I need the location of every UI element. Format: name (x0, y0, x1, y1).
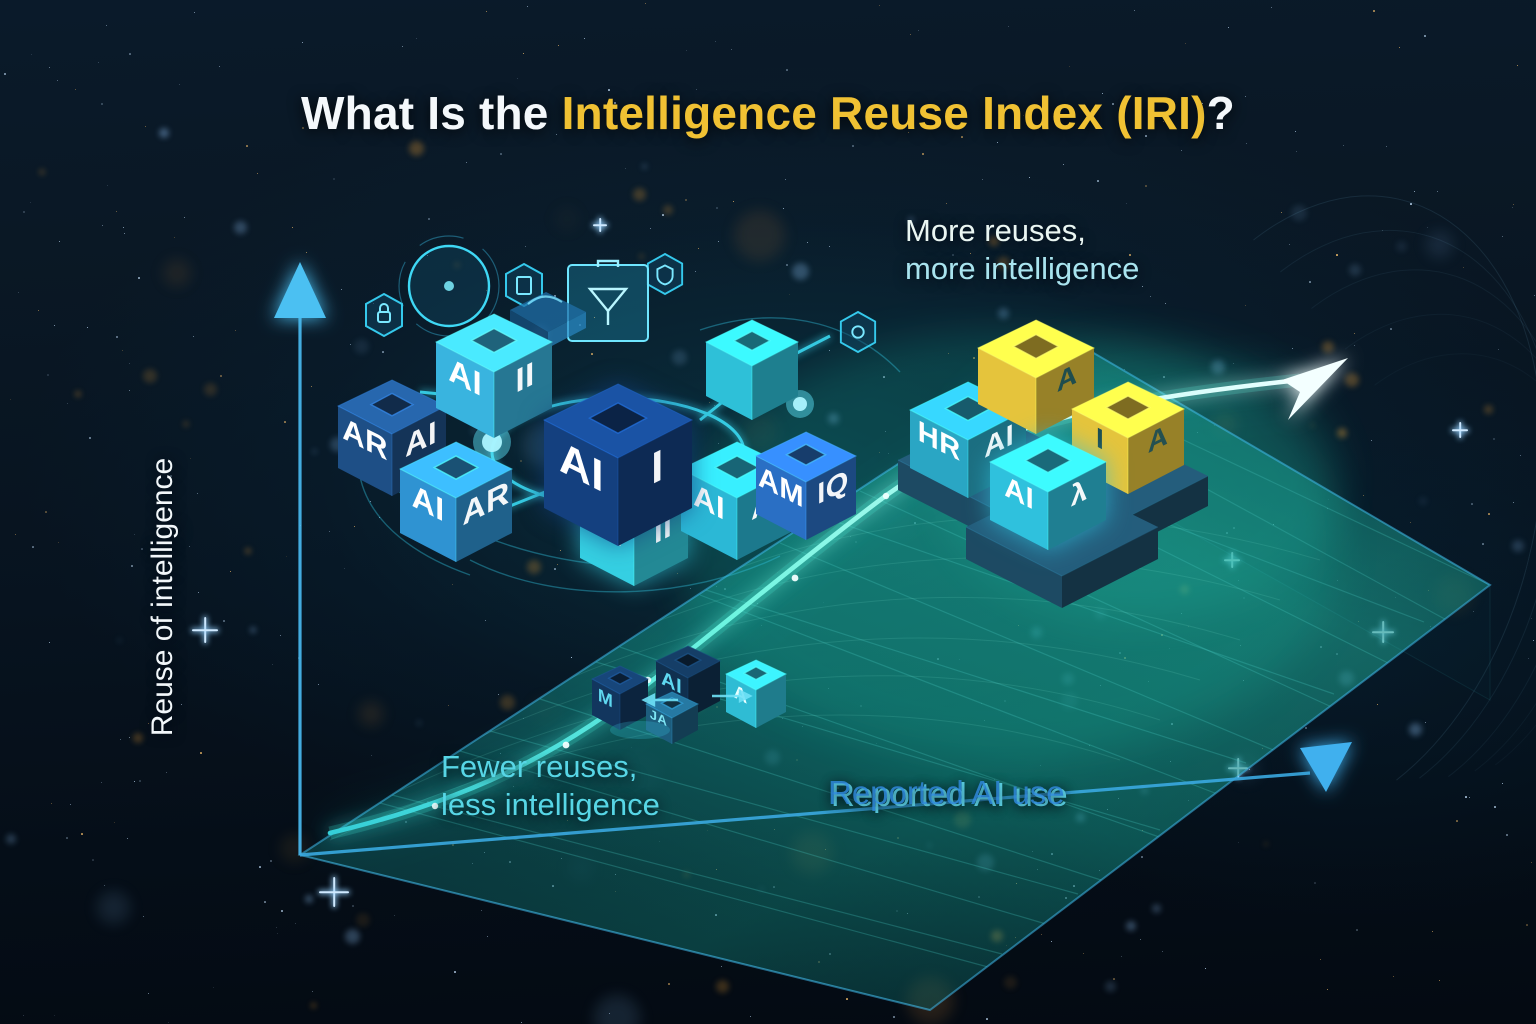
x-axis-arrowhead (1300, 742, 1352, 792)
annotation-high-line1: More reuses, (905, 212, 1139, 250)
annotation-low-line1: Fewer reuses, (441, 748, 660, 786)
x-axis-label: Reported AI use Reported AI use (831, 776, 1068, 814)
y-axis (274, 262, 326, 855)
y-axis-label: Reuse of intelligence (146, 397, 180, 797)
annotation-high-line2: more intelligence (905, 250, 1139, 288)
plot-svg (0, 0, 1536, 1024)
x-axis-label-ghost: Reported AI use (828, 774, 1065, 812)
annotation-high-reuse: More reuses, more intelligence (905, 212, 1139, 288)
y-axis-arrowhead (274, 262, 326, 318)
annotation-low-line2: less intelligence (441, 786, 660, 824)
infographic-canvas: AR AI AI II AI AR AI II (0, 0, 1536, 1024)
page-title: What Is the Intelligence Reuse Index (IR… (0, 86, 1536, 140)
title-highlight: Intelligence Reuse Index (IRI) (562, 87, 1207, 139)
iri-3d-plot (0, 0, 1536, 1024)
title-plain: What Is the (301, 87, 562, 139)
annotation-low-reuse: Fewer reuses, less intelligence (441, 748, 660, 824)
title-suffix: ? (1207, 87, 1235, 139)
